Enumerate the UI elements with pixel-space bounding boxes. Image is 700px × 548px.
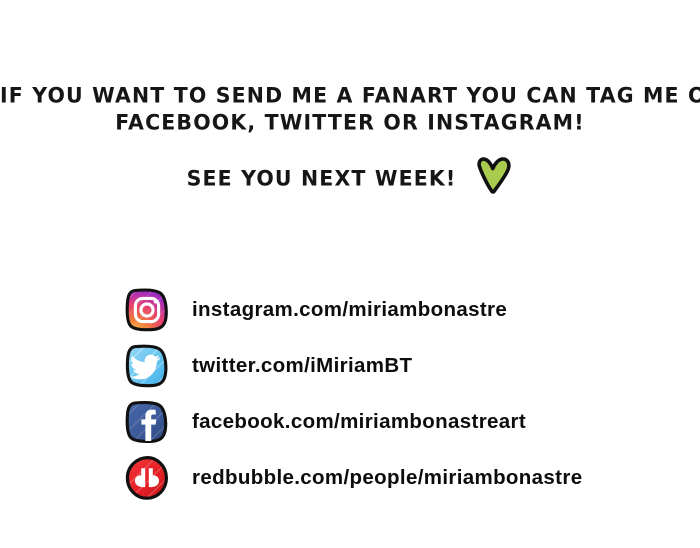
social-row-twitter[interactable]: twitter.com/iMiriamBT: [124, 338, 582, 394]
social-links-list: instagram.com/miriambonastre: [124, 282, 582, 506]
social-row-facebook[interactable]: facebook.com/miriambonastreart: [124, 394, 582, 450]
social-url-instagram[interactable]: instagram.com/miriambonastre: [192, 298, 507, 322]
instagram-icon[interactable]: [124, 287, 170, 333]
facebook-icon[interactable]: [124, 399, 170, 445]
social-row-redbubble[interactable]: redbubble.com/people/miriambonastre: [124, 450, 582, 506]
redbubble-icon[interactable]: [124, 455, 170, 501]
fanart-message-line-2: FACEBOOK, TWITTER OR INSTAGRAM!: [0, 108, 700, 137]
signoff-row: SEE YOU NEXT WEEK!: [0, 160, 700, 195]
social-row-instagram[interactable]: instagram.com/miriambonastre: [124, 282, 582, 338]
comic-outro-panel: IF YOU WANT TO SEND ME A FANART YOU CAN …: [0, 0, 700, 548]
social-url-twitter[interactable]: twitter.com/iMiriamBT: [192, 354, 412, 378]
fanart-message: IF YOU WANT TO SEND ME A FANART YOU CAN …: [0, 82, 700, 136]
social-url-redbubble[interactable]: redbubble.com/people/miriambonastre: [192, 466, 582, 490]
twitter-icon[interactable]: [124, 343, 170, 389]
fanart-message-line-1: IF YOU WANT TO SEND ME A FANART YOU CAN …: [0, 81, 700, 110]
signoff-text: SEE YOU NEXT WEEK!: [187, 165, 457, 190]
social-url-facebook[interactable]: facebook.com/miriambonastreart: [192, 410, 526, 434]
heart-icon: [473, 157, 513, 195]
